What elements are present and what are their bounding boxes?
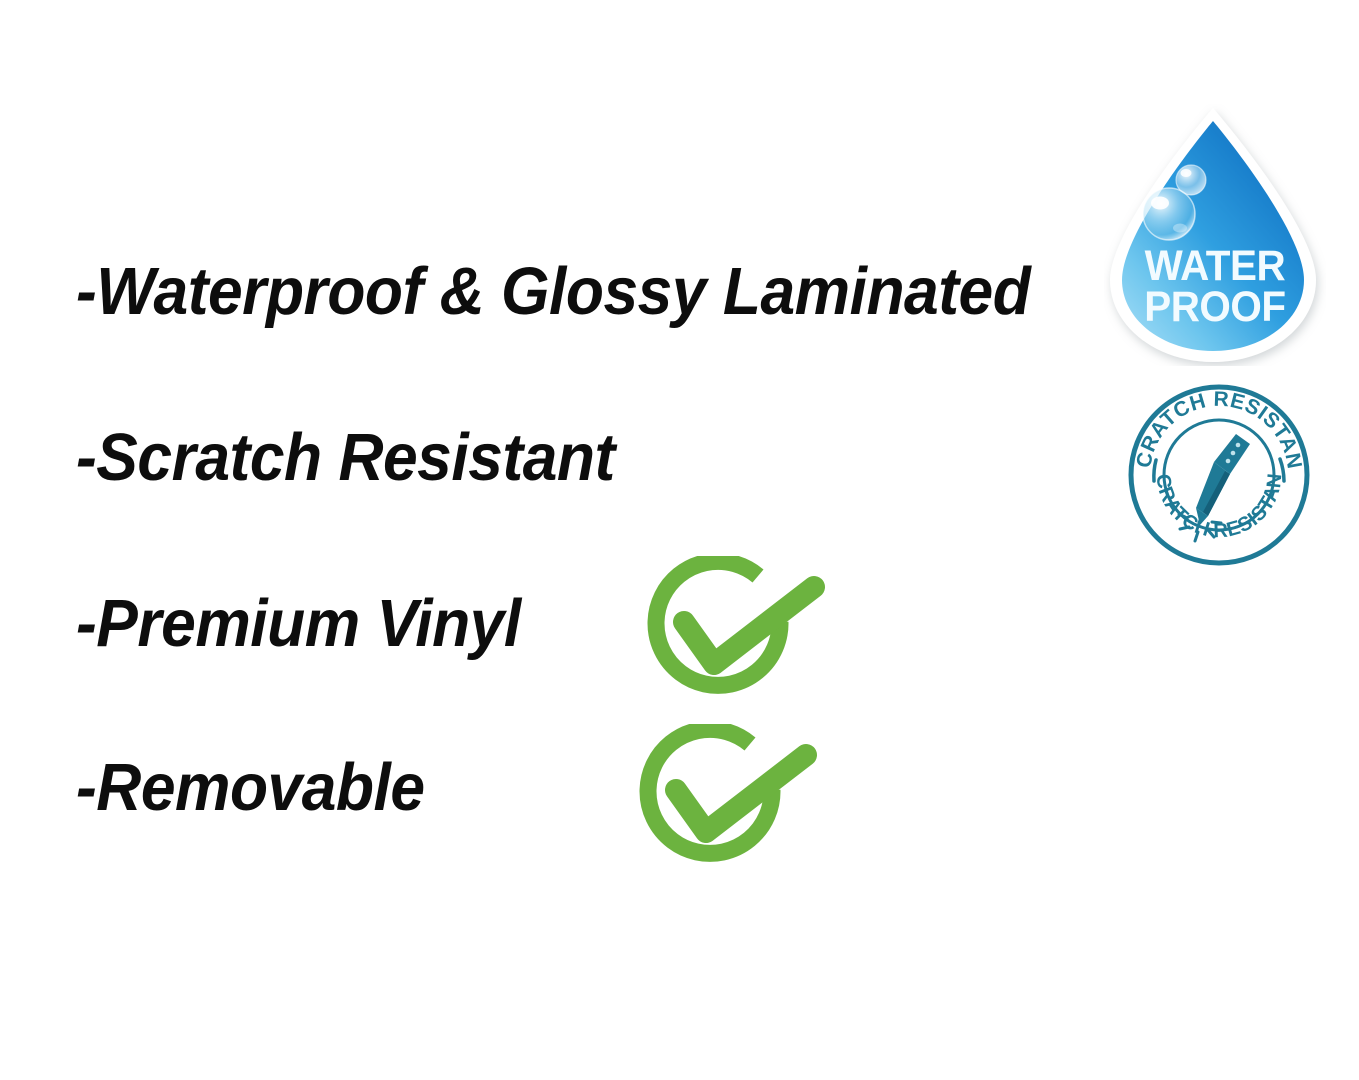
feature-line-removable: -Removable — [76, 754, 425, 821]
check-icon — [676, 755, 806, 832]
feature-line-waterproof-glossy-laminated: -Waterproof & Glossy Laminated — [76, 258, 1030, 325]
scratch-resistant-badge: SCRATCH RESISTANT SCRATCH RESISTANT — [1126, 382, 1312, 568]
water-bubble-large-icon — [1143, 188, 1195, 240]
check-icon — [684, 587, 814, 664]
waterproof-label-line2: PROOF — [1144, 282, 1285, 330]
check-circle-premium-vinyl — [636, 556, 836, 721]
feature-list-graphic: -Waterproof & Glossy Laminated -Scratch … — [0, 0, 1359, 1080]
check-circle-removable — [628, 724, 828, 889]
scratch-label-top: SCRATCH RESISTANT — [1126, 382, 1306, 471]
waterproof-badge: WATER PROOF — [1104, 104, 1326, 366]
feature-line-premium-vinyl: -Premium Vinyl — [76, 590, 521, 657]
feature-line-scratch-resistant: -Scratch Resistant — [76, 424, 615, 491]
